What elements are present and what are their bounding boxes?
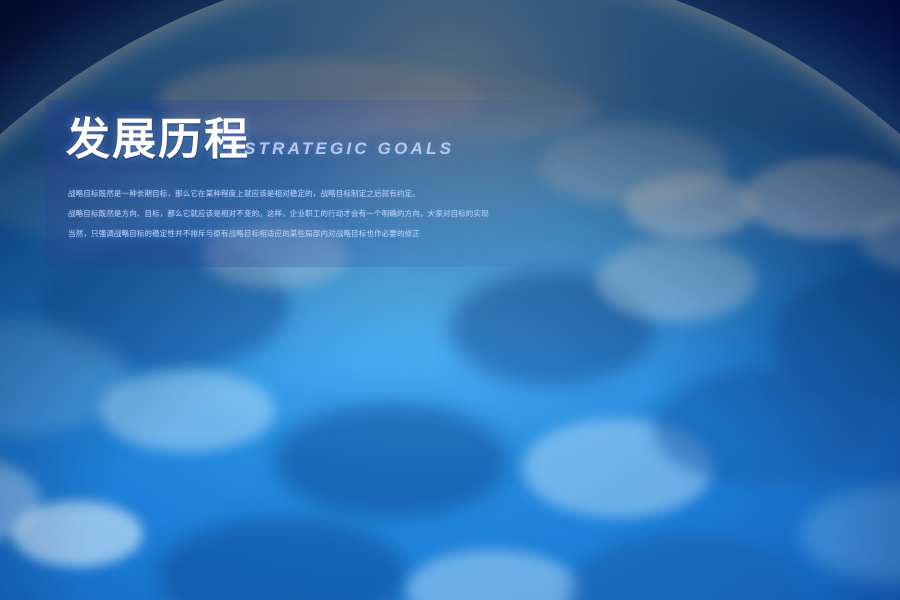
body-paragraph-2: 战略目标既然是方向、目标，那么它就应该是相对不变的。这样，企业职工的行动才会有一…: [68, 206, 538, 222]
body-paragraph-1: 战略目标既然是一种长期目标，那么它在某种程度上就应该是相对稳定的，战略目标制定之…: [68, 186, 538, 202]
scene-vignette: [0, 0, 900, 600]
page-subtitle: STRATEGIC GOALS: [244, 139, 454, 162]
body-paragraph-3: 当然，只强调战略目标的稳定性并不排斥与原有战略目标相适应的某些局部内对战略目标也…: [68, 226, 538, 242]
headline-group: 发展历程 STRATEGIC GOALS: [66, 118, 454, 162]
page-title: 发展历程: [66, 118, 250, 162]
body-copy: 战略目标既然是一种长期目标，那么它在某种程度上就应该是相对稳定的，战略目标制定之…: [68, 186, 538, 246]
banner-stage: 发展历程 STRATEGIC GOALS 战略目标既然是一种长期目标，那么它在某…: [0, 0, 900, 600]
